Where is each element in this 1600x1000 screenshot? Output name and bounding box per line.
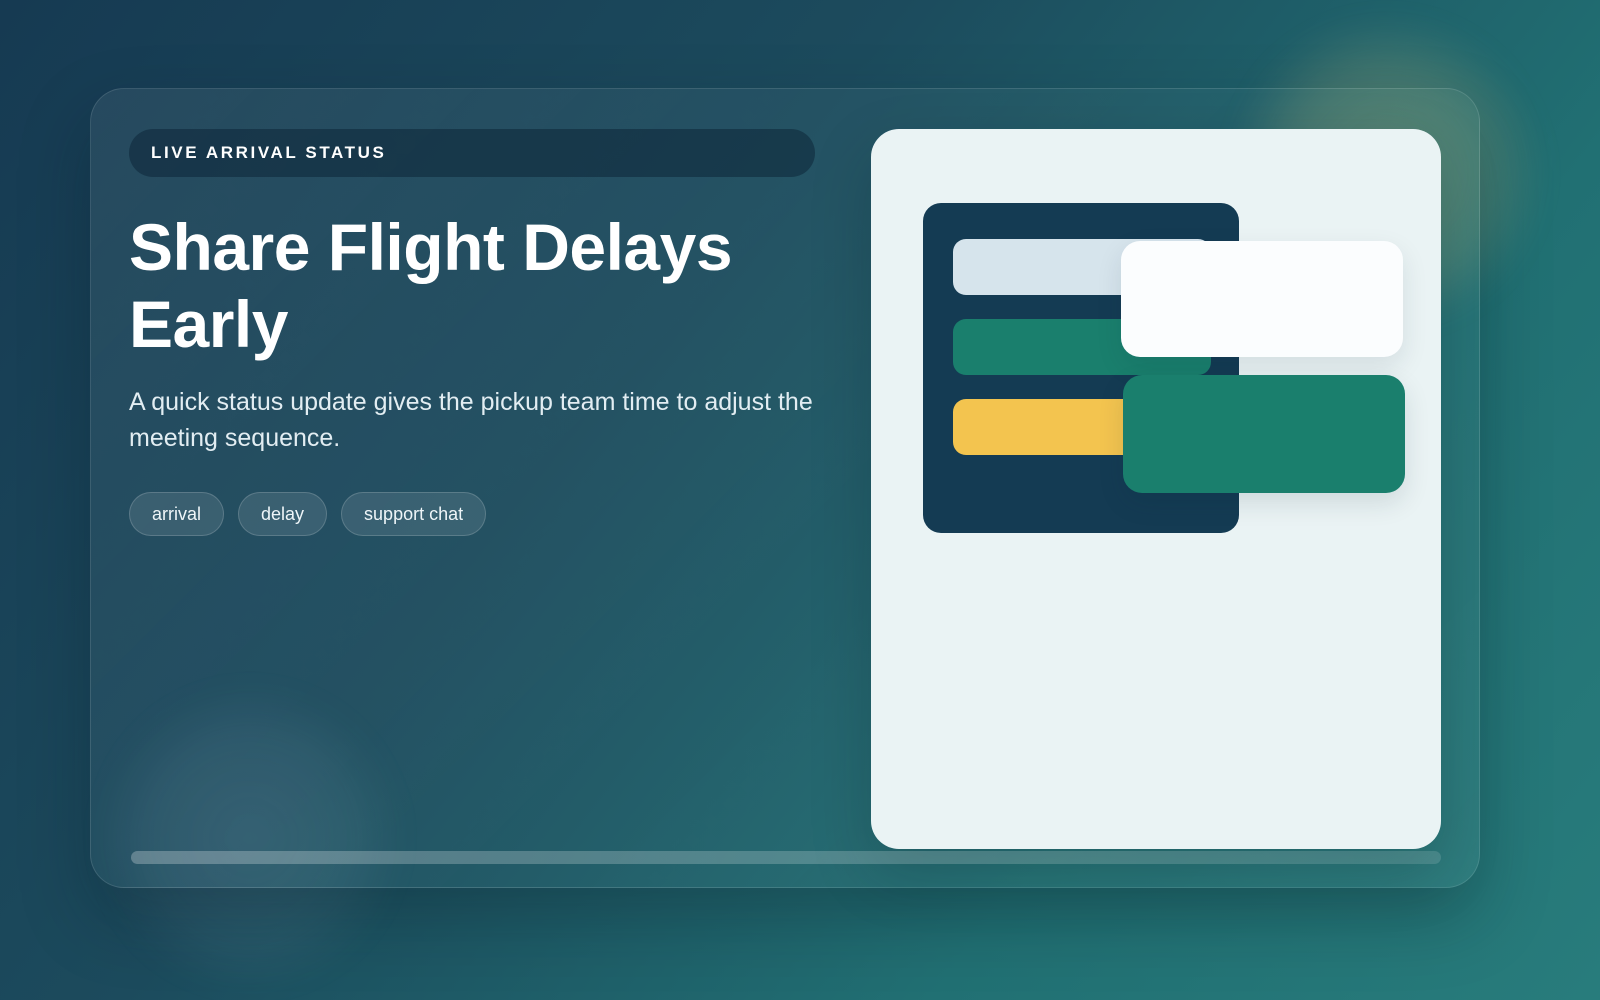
illustration-card bbox=[871, 129, 1441, 849]
page-title: Share Flight Delays Early bbox=[129, 209, 809, 362]
tag-pill-label: arrival bbox=[152, 504, 201, 525]
page-subtitle: A quick status update gives the pickup t… bbox=[129, 384, 829, 456]
panel-bottom-rail bbox=[131, 851, 1441, 864]
hero-text-column: LIVE ARRIVAL STATUS Share Flight Delays … bbox=[129, 129, 829, 536]
tag-list: arrival delay support chat bbox=[129, 492, 829, 536]
tag-pill-support-chat[interactable]: support chat bbox=[341, 492, 486, 536]
tag-pill-delay[interactable]: delay bbox=[238, 492, 327, 536]
hero-stage: LIVE ARRIVAL STATUS Share Flight Delays … bbox=[0, 0, 1600, 1000]
status-badge: LIVE ARRIVAL STATUS bbox=[129, 129, 815, 177]
tag-pill-label: support chat bbox=[364, 504, 463, 525]
tag-pill-arrival[interactable]: arrival bbox=[129, 492, 224, 536]
illustration-float-card-white bbox=[1121, 241, 1403, 357]
status-badge-label: LIVE ARRIVAL STATUS bbox=[151, 143, 386, 163]
illustration-float-card-teal bbox=[1123, 375, 1405, 493]
hero-glass-panel: LIVE ARRIVAL STATUS Share Flight Delays … bbox=[90, 88, 1480, 888]
tag-pill-label: delay bbox=[261, 504, 304, 525]
